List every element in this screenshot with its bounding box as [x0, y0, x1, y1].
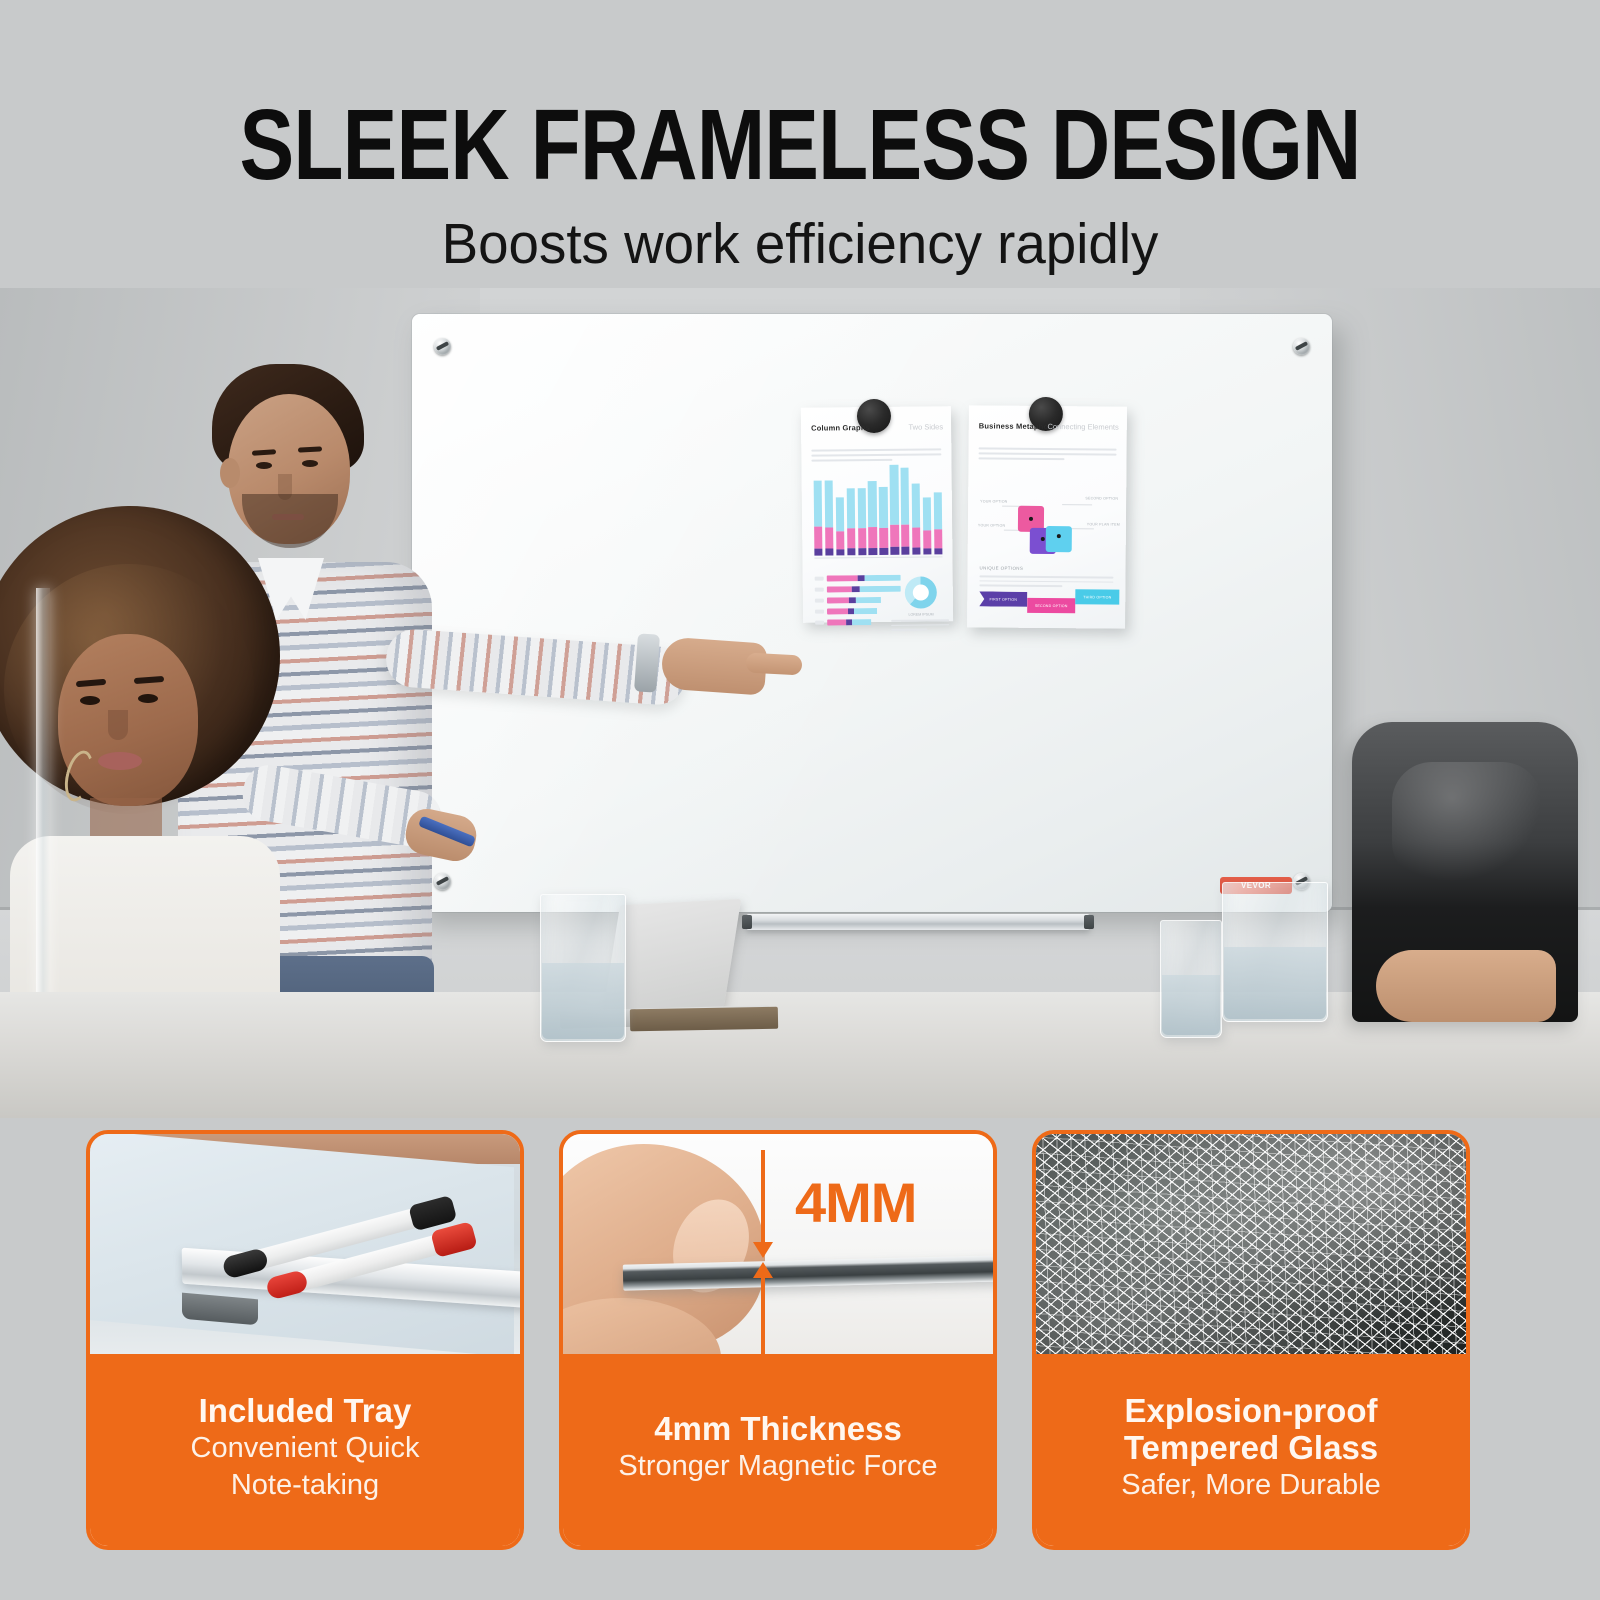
notebook	[630, 1007, 778, 1032]
hero-photo: VEVOR Column Graphs Two Sides	[0, 288, 1600, 1118]
card-title: Included Tray	[199, 1392, 412, 1429]
product-marketing-image: SLEEK FRAMELESS DESIGN Boosts work effic…	[0, 0, 1600, 1600]
feature-card-thickness: 4MM 4mm Thickness Stronger Magnetic Forc…	[559, 1130, 997, 1550]
chair-highlight	[1392, 762, 1542, 882]
card-title-line1: Explosion-proof	[1125, 1392, 1378, 1429]
card-caption: 4mm Thickness Stronger Magnetic Force	[563, 1354, 993, 1546]
feature-card-tempered-glass: Explosion-proof Tempered Glass Safer, Mo…	[1032, 1130, 1470, 1550]
card-subtitle-line2: Note-taking	[231, 1468, 379, 1503]
poster-bar-rows	[815, 575, 902, 631]
page-subtitle: Boosts work efficiency rapidly	[32, 212, 1568, 276]
screw-icon	[1293, 338, 1310, 355]
feature-card-included-tray: Included Tray Convenient Quick Note-taki…	[86, 1130, 524, 1550]
water-glass	[1160, 920, 1222, 1038]
poster-title-secondary: Two Sides	[908, 422, 943, 431]
card-caption: Explosion-proof Tempered Glass Safer, Mo…	[1036, 1354, 1466, 1546]
donut-caption: LOREM IPSUM	[895, 612, 947, 617]
poster-donut-chart	[905, 576, 937, 608]
poster-callout: SECOND OPTION	[1085, 496, 1118, 500]
card-subtitle-line1: Safer, More Durable	[1121, 1468, 1381, 1503]
poster-title: Business Metaphor	[979, 421, 1052, 431]
chart-axis	[814, 556, 942, 558]
ribbon-item: THIRD OPTION	[1075, 589, 1119, 604]
poster-business-metaphor: Business Metaphor Connecting Elements YO…	[967, 405, 1127, 628]
poster-column-chart	[814, 482, 943, 555]
card-image: 4MM	[563, 1134, 993, 1362]
card-image	[90, 1134, 520, 1362]
poster-body-text	[811, 448, 941, 464]
ribbon-item: SECOND OPTION	[1027, 598, 1075, 613]
poster-title-secondary: Connecting Elements	[1047, 422, 1118, 432]
card-image	[1036, 1134, 1466, 1362]
card-subtitle-line1: Convenient Quick	[191, 1431, 420, 1466]
poster-ribbons: FIRST OPTION SECOND OPTION THIRD OPTION	[979, 591, 1119, 613]
arrow-down-icon	[753, 1242, 773, 1258]
ribbon-item: FIRST OPTION	[979, 591, 1027, 606]
glass-gloss	[1036, 1134, 1466, 1362]
water-glass	[540, 894, 626, 1042]
pointing-finger	[746, 653, 803, 676]
page-title: SLEEK FRAMELESS DESIGN	[144, 95, 1456, 195]
water-glass	[1222, 882, 1328, 1022]
card-caption: Included Tray Convenient Quick Note-taki…	[90, 1354, 520, 1546]
card-title-line2: Tempered Glass	[1124, 1429, 1378, 1466]
thickness-arrow	[761, 1150, 765, 1350]
card-title: 4mm Thickness	[654, 1410, 902, 1447]
poster-title: Column Graphs	[811, 423, 870, 433]
card-subtitle-line1: Stronger Magnetic Force	[618, 1449, 937, 1484]
thickness-annotation: 4MM	[795, 1170, 916, 1235]
feature-cards: Included Tray Convenient Quick Note-taki…	[0, 1120, 1600, 1600]
foreground-hand-right	[1376, 950, 1556, 1022]
glass-whiteboard: VEVOR Column Graphs Two Sides	[412, 314, 1332, 912]
puzzle-icon	[1014, 502, 1079, 563]
donut-body-text	[891, 619, 949, 633]
poster-callout: YOUR OPTION	[980, 499, 1007, 503]
ear	[220, 458, 240, 488]
poster-body-text	[978, 447, 1116, 463]
poster-callout: YOUR PLAN ITEM	[1087, 522, 1120, 526]
poster-column-graphs: Column Graphs Two Sides	[801, 406, 953, 623]
pen-tray	[746, 914, 1090, 930]
wristwatch	[634, 633, 660, 692]
poster-section-text	[979, 575, 1113, 590]
poster-section-label: UNIQUE OPTIONS	[980, 565, 1024, 570]
poster-callout: YOUR OPTION	[978, 523, 1005, 527]
